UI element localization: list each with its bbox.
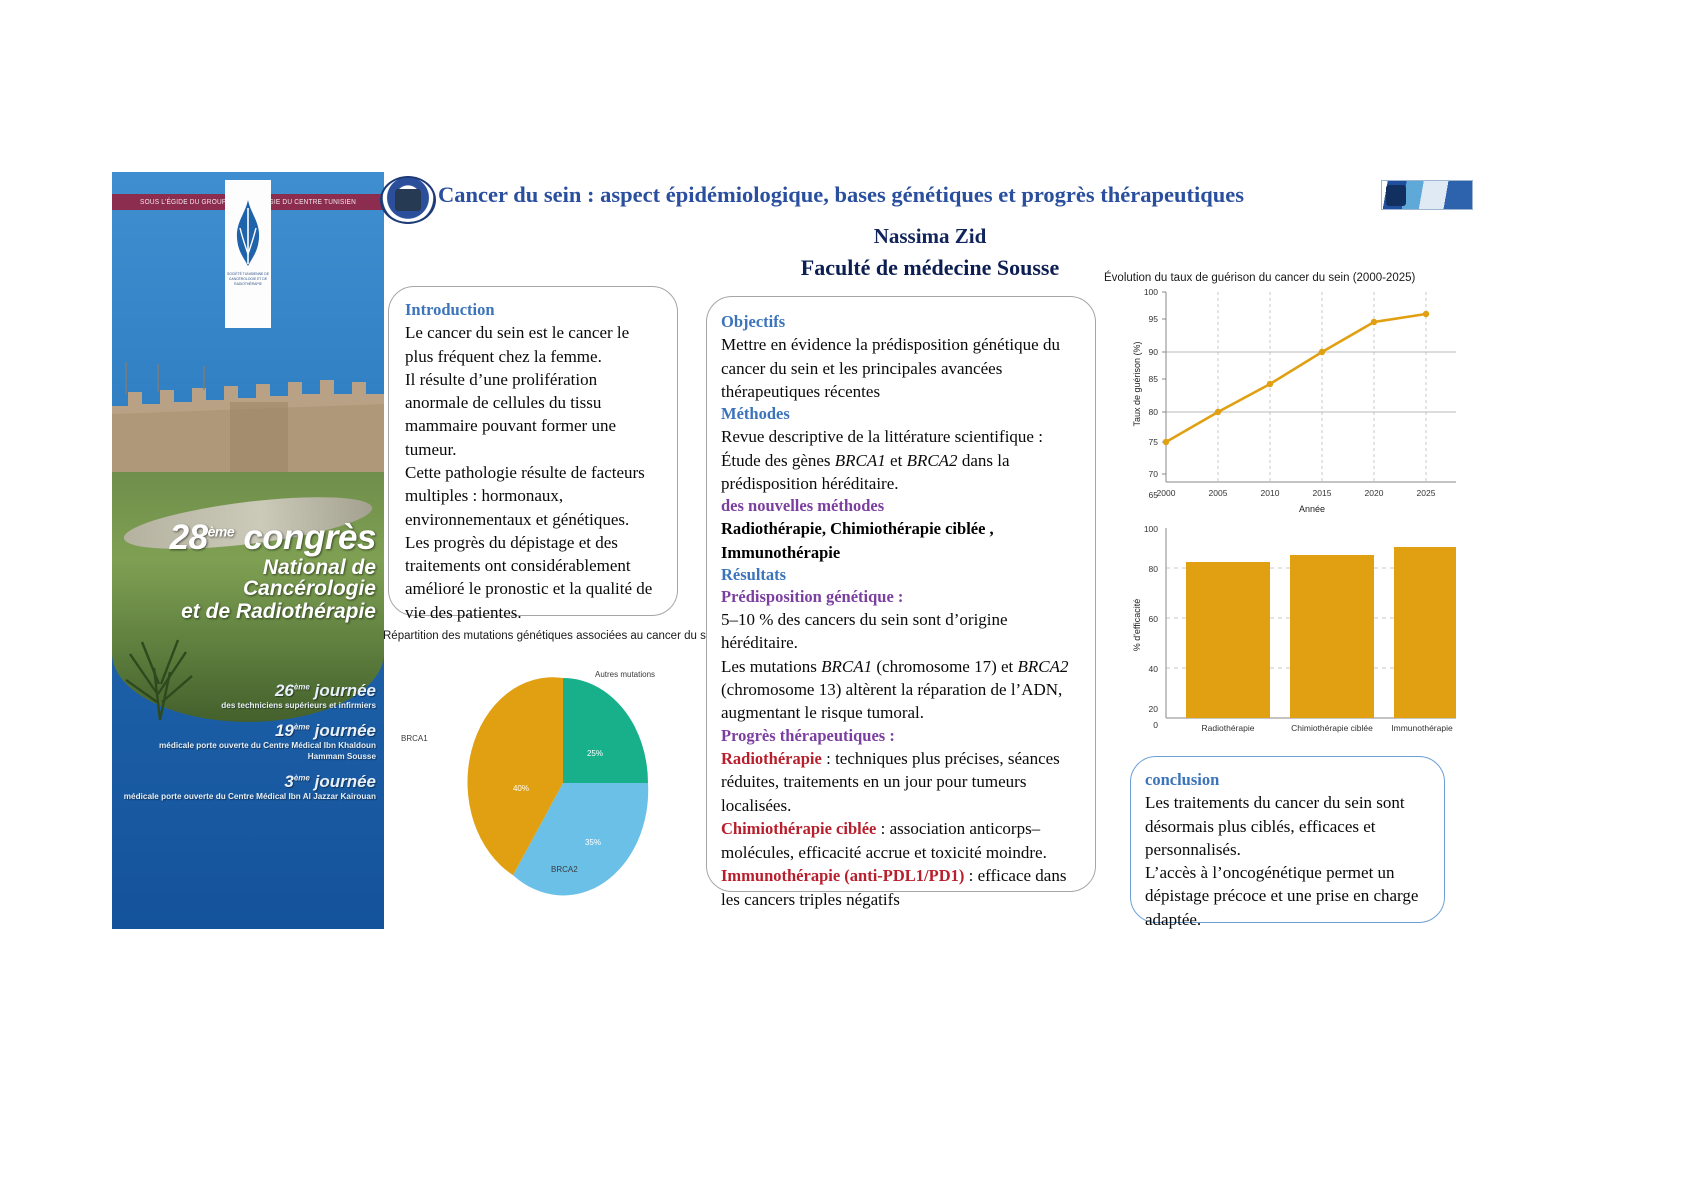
svg-text:0: 0: [1153, 720, 1158, 730]
svg-text:2025: 2025: [1417, 488, 1436, 498]
bar-chart-figure: 100 80 60 40 20 0 Radiothérapie Chimioth…: [1100, 520, 1460, 750]
introduction-body: Introduction Le cancer du sein est le ca…: [389, 287, 677, 634]
radiotherapie-label: Radiothérapie: [721, 749, 822, 768]
congress-banner-image: SOUS L'ÉGIDE DU GROUPE D'ONCOLOGIE DU CE…: [112, 172, 384, 929]
bar-radiotherapie: [1186, 562, 1270, 718]
svg-text:100: 100: [1144, 524, 1158, 534]
pie-value-brca2: 35%: [585, 838, 601, 847]
pie-label-brca2: BRCA2: [551, 865, 578, 874]
conclusion-heading: conclusion: [1145, 769, 1430, 791]
svg-text:80: 80: [1149, 564, 1159, 574]
predisposition-text-1: 5–10 % des cancers du sein sont d’origin…: [721, 608, 1081, 655]
radiotherapie-item: Radiothérapie : techniques plus précises…: [721, 747, 1081, 817]
svg-text:% d'efficacité: % d'efficacité: [1132, 599, 1142, 652]
svg-text:75: 75: [1149, 437, 1159, 447]
pie-value-brca1: 40%: [513, 784, 529, 793]
main-content-body: Objectifs Mettre en évidence la prédispo…: [707, 297, 1095, 921]
pie-label-autres: Autres mutations: [595, 670, 655, 679]
svg-text:Année: Année: [1299, 504, 1325, 514]
conclusion-box: conclusion Les traitements du cancer du …: [1130, 756, 1445, 923]
banner-day-3: 3ème journée: [122, 773, 376, 791]
banner-logo-caption: SOCIÉTÉ TUNISIENNE DE CANCÉROLOGIE ET DE…: [226, 272, 270, 287]
conclusion-body: conclusion Les traitements du cancer du …: [1131, 757, 1444, 943]
predisposition-text-2: Les mutations BRCA1 (chromosome 17) et B…: [721, 655, 1081, 725]
introduction-paragraph-2: Il résulte d’une prolifération anormale …: [405, 368, 661, 461]
pie-chart-svg: 25% 35% 40%: [443, 658, 683, 898]
methodes-heading: Méthodes: [721, 403, 1081, 425]
poster-canvas: SOUS L'ÉGIDE DU GROUPE D'ONCOLOGIE DU CE…: [0, 0, 1684, 1190]
author-name: Nassima Zid: [380, 224, 1480, 249]
svg-text:70: 70: [1149, 469, 1159, 479]
svg-text:2015: 2015: [1313, 488, 1332, 498]
partner-logo-badge: [1386, 185, 1406, 206]
predisposition-heading: Prédisposition génétique :: [721, 586, 1081, 608]
svg-text:80: 80: [1149, 407, 1159, 417]
pie-chart-title: Répartition des mutations génétiques ass…: [383, 630, 721, 642]
banner-day-2-sub: médicale porte ouverte du Centre Médical…: [122, 740, 376, 762]
line-series-path: [1166, 314, 1426, 442]
svg-text:2005: 2005: [1209, 488, 1228, 498]
immunotherapie-label: Immunothérapie (anti-PDL1/PD1): [721, 866, 964, 885]
svg-text:Chimiothérapie ciblée: Chimiothérapie ciblée: [1291, 723, 1373, 733]
objectifs-heading: Objectifs: [721, 311, 1081, 333]
introduction-paragraph-4: Les progrès du dépistage et des traiteme…: [405, 531, 661, 624]
main-content-box: Objectifs Mettre en évidence la prédispo…: [706, 296, 1096, 892]
page-title: Cancer du sein : aspect épidémiologique,…: [438, 182, 1684, 208]
pie-chart-figure: Répartition des mutations génétiques ass…: [383, 630, 713, 910]
resultats-heading: Résultats: [721, 564, 1081, 586]
svg-text:Immunothérapie: Immunothérapie: [1391, 723, 1453, 733]
banner-title-line2: National de Cancérologie: [124, 557, 376, 599]
conclusion-paragraph-2: L’accès à l’oncogénétique permet un dépi…: [1145, 861, 1430, 931]
bar-chimiotherapie: [1290, 555, 1374, 718]
svg-text:Taux de guérison (%): Taux de guérison (%): [1132, 341, 1142, 426]
banner-title-block: 28ème congrès National de Cancérologie e…: [124, 520, 376, 622]
svg-text:85: 85: [1149, 374, 1159, 384]
partner-logo-icon: [1381, 180, 1473, 210]
banner-day-1: 26ème journée: [122, 682, 376, 700]
chimiotherapie-label: Chimiothérapie ciblée: [721, 819, 876, 838]
svg-text:2010: 2010: [1261, 488, 1280, 498]
logo-inner-emblem: [395, 189, 421, 211]
svg-text:100: 100: [1144, 287, 1158, 297]
banner-day-3-sub: médicale porte ouverte du Centre Médical…: [122, 791, 376, 802]
title-row: Cancer du sein : aspect épidémiologique,…: [380, 178, 1480, 220]
svg-text:95: 95: [1149, 314, 1159, 324]
nouvelles-methodes-text: Radiothérapie, Chimiothérapie ciblée , I…: [721, 517, 1081, 563]
banner-days-block: 26ème journée des techniciens supérieurs…: [122, 682, 376, 813]
objectifs-text: Mettre en évidence la prédisposition gén…: [721, 333, 1081, 403]
congress-society-logo-icon: [380, 176, 436, 224]
progres-heading: Progrès thérapeutiques :: [721, 725, 1081, 747]
line-chart-title: Évolution du taux de guérison du cancer …: [1104, 272, 1415, 284]
banner-title-line3: et de Radiothérapie: [124, 601, 376, 622]
methodes-text: Revue descriptive de la littérature scie…: [721, 425, 1081, 495]
bar-immunotherapie: [1394, 547, 1456, 718]
svg-text:2020: 2020: [1365, 488, 1384, 498]
svg-text:40: 40: [1149, 664, 1159, 674]
svg-text:2000: 2000: [1157, 488, 1176, 498]
banner-day-1-sub: des techniciens supérieurs et infirmiers: [122, 700, 376, 711]
poster-header: Cancer du sein : aspect épidémiologique,…: [380, 178, 1480, 281]
svg-text:60: 60: [1149, 614, 1159, 624]
line-chart-svg: 100 95 90 85 80 75 70 65 2000 2005 2010 …: [1100, 284, 1460, 520]
bar-chart-svg: 100 80 60 40 20 0 Radiothérapie Chimioth…: [1100, 520, 1460, 750]
svg-text:20: 20: [1149, 704, 1159, 714]
society-leaf-logo-icon: [230, 198, 266, 270]
introduction-heading: Introduction: [405, 299, 661, 321]
banner-day-2: 19ème journée: [122, 722, 376, 740]
pie-value-autres: 25%: [587, 749, 603, 758]
immunotherapie-item: Immunothérapie (anti-PDL1/PD1) : efficac…: [721, 864, 1081, 911]
introduction-box: Introduction Le cancer du sein est le ca…: [388, 286, 678, 616]
svg-text:90: 90: [1149, 347, 1159, 357]
introduction-paragraph-1: Le cancer du sein est le cancer le plus …: [405, 321, 661, 368]
chimiotherapie-item: Chimiothérapie ciblée : association anti…: [721, 817, 1081, 864]
svg-text:Radiothérapie: Radiothérapie: [1202, 723, 1255, 733]
introduction-paragraph-3: Cette pathologie résulte de facteurs mul…: [405, 461, 661, 531]
pie-label-brca1: BRCA1: [401, 734, 428, 743]
line-chart-figure: Évolution du taux de guérison du cancer …: [1100, 270, 1460, 520]
nouvelles-methodes-heading: des nouvelles méthodes: [721, 495, 1081, 517]
banner-title-line1: 28ème congrès: [124, 520, 376, 555]
conclusion-paragraph-1: Les traitements du cancer du sein sont d…: [1145, 791, 1430, 861]
